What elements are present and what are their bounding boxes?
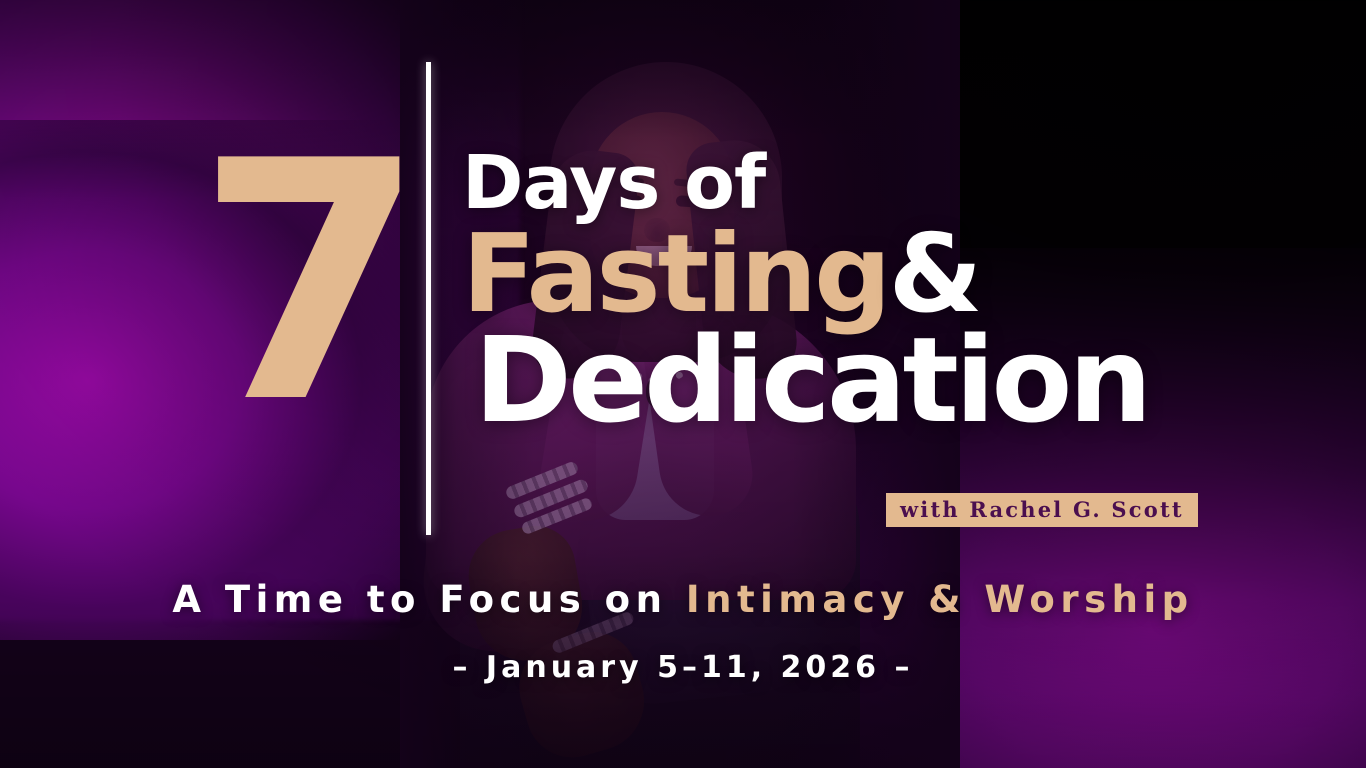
flyer-content: 7 Days of Fasting& Dedication with Rache…	[0, 0, 1366, 768]
tagline: A Time to Focus on Intimacy & Worship	[0, 578, 1366, 621]
promo-flyer: 7 Days of Fasting& Dedication with Rache…	[0, 0, 1366, 768]
headline-block: Days of Fasting& Dedication	[462, 148, 1148, 435]
headline-line-days-of: Days of	[462, 148, 1148, 219]
tagline-prefix: A Time to Focus on	[172, 578, 685, 621]
day-count-number: 7	[196, 118, 396, 448]
tagline-accent: Intimacy & Worship	[686, 578, 1194, 621]
event-dateline: – January 5–11, 2026 –	[0, 650, 1366, 685]
speaker-byline-banner: with Rachel G. Scott	[886, 493, 1198, 527]
headline-line-fasting: Fasting&	[462, 225, 1148, 324]
headline-line-dedication: Dedication	[474, 326, 1148, 435]
vertical-divider-rule	[426, 62, 431, 535]
